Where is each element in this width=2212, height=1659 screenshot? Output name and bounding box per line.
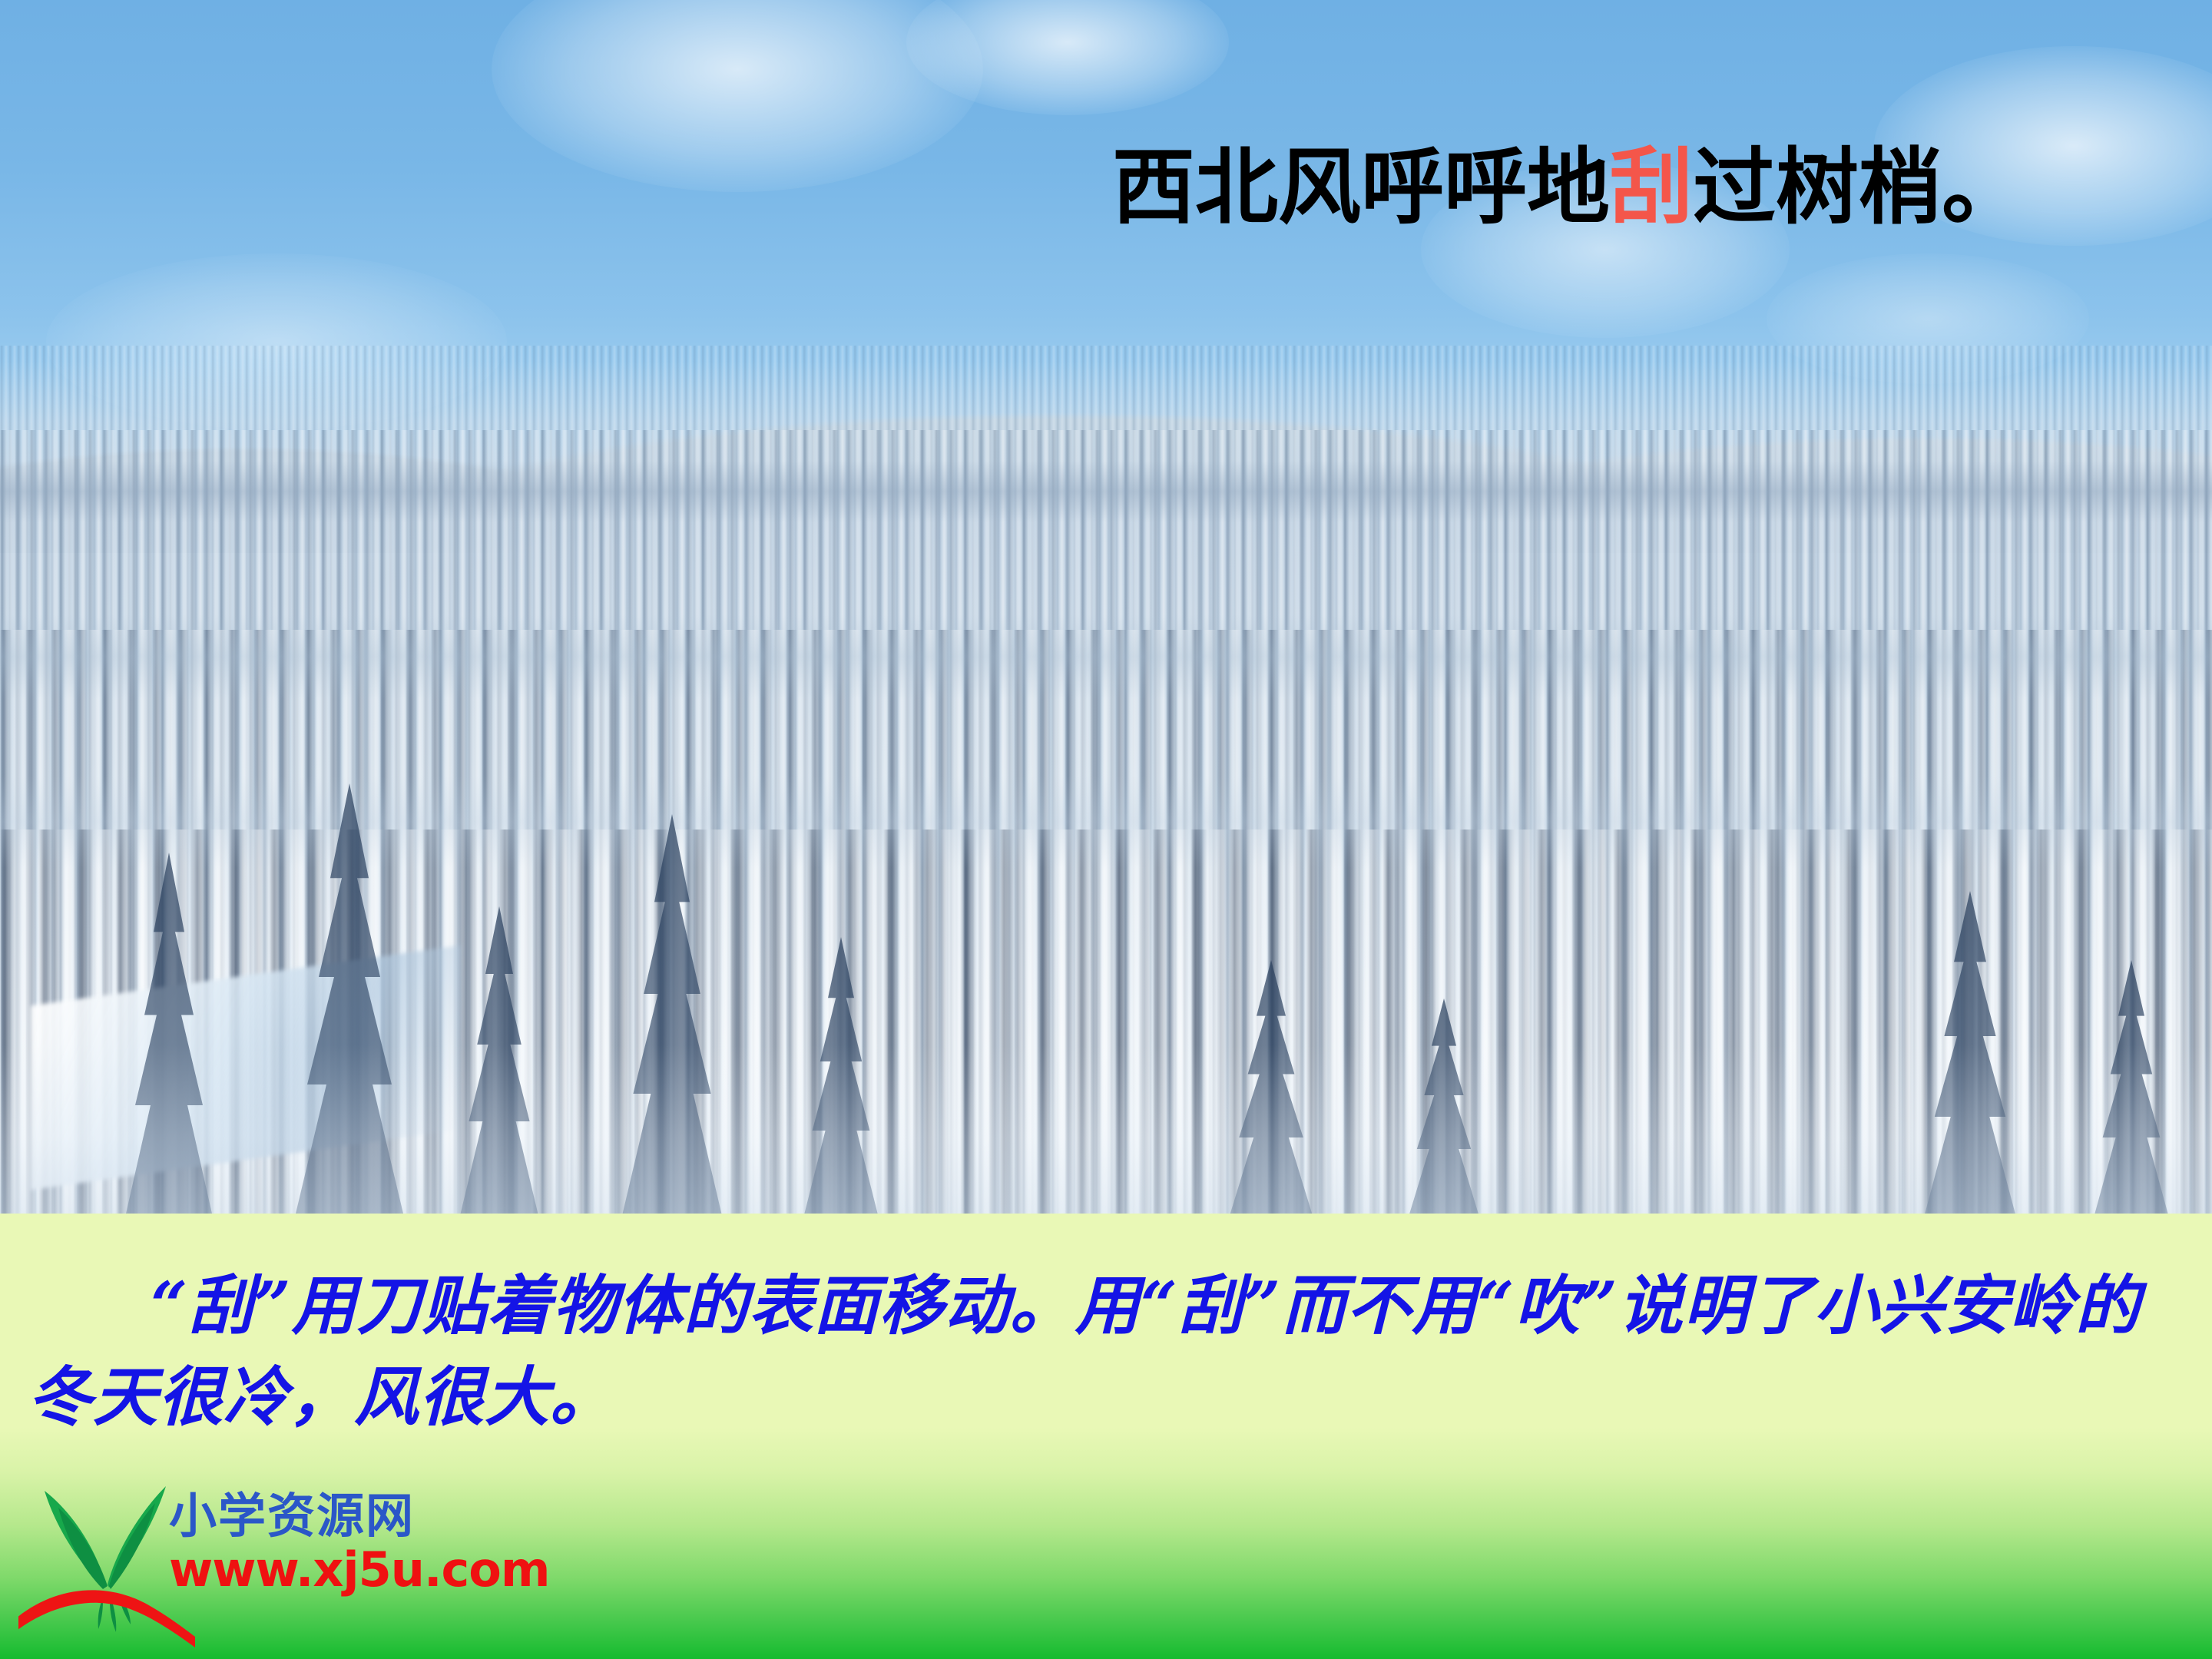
cloud-shape	[492, 0, 983, 192]
title-segment-suffix: 过树梢。	[1693, 139, 2025, 236]
snowy-mountain-forest-photo: 西北风呼呼地刮过树梢。	[0, 0, 2212, 1214]
title-segment-prefix: 西北风呼呼地	[1112, 139, 1610, 236]
photo-bottom-fade	[0, 1045, 2212, 1214]
title-segment-highlight: 刮	[1610, 139, 1693, 236]
explanation-text: “刮”用刀贴着物体的表面移动。用“刮”而不用“吹”说明了小兴安岭的冬天很冷，风很…	[0, 1260, 2212, 1443]
logo-site-name: 小学资源网	[169, 1492, 492, 1540]
cloud-shape	[906, 0, 1229, 115]
site-logo[interactable]: 小学资源网 www.xj5u.com	[18, 1472, 495, 1653]
logo-site-url: www.xj5u.com	[169, 1546, 492, 1594]
slide-canvas: 西北风呼呼地刮过树梢。 “刮”用刀贴着物体的表面移动。用“刮”而不用“吹”说明了…	[0, 0, 2212, 1659]
logo-text-block: 小学资源网 www.xj5u.com	[169, 1492, 492, 1594]
title-sentence: 西北风呼呼地刮过树梢。	[1112, 144, 2025, 231]
explanation-panel: “刮”用刀贴着物体的表面移动。用“刮”而不用“吹”说明了小兴安岭的冬天很冷，风很…	[0, 1214, 2212, 1659]
